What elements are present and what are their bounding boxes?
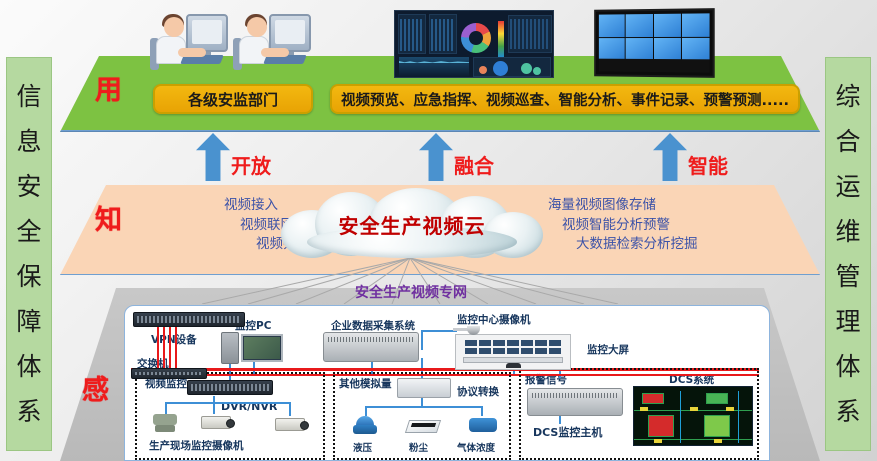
layer-tag-use: 用 (95, 68, 122, 107)
equipment-panel: VPN设备 交换机 监控PC 企业数据采集系统 监控中心摄像机 监控大屏 (124, 305, 770, 461)
side-left-char: 信 (16, 84, 41, 110)
side-left-char: 安 (16, 174, 41, 200)
bullet-camera-icon (201, 416, 231, 429)
pressure-sensor-icon (353, 416, 377, 434)
arrow-up-icon (653, 133, 687, 181)
cloud-capabilities-right: 海量视频图像存储 视频智能分析预警 大数据检索分析挖掘 (548, 196, 738, 255)
label-control-center-camera: 监控中心摄像机 (457, 312, 531, 327)
arrow-label-convergence: 融合 (454, 150, 494, 179)
cloud-capabilities-left: 视频接入 视频联网 视频共享 (128, 196, 278, 255)
side-right-char: 合 (835, 129, 860, 155)
side-left-char: 障 (16, 309, 41, 335)
dvr-nvr-icon (187, 380, 273, 395)
video-wall-room-icon (455, 334, 571, 370)
analytics-dashboard-icon (394, 10, 554, 78)
cloud-right-item: 视频智能分析预警 (562, 216, 738, 236)
dcs-screen-icon (633, 386, 753, 446)
arrow-up-icon (419, 133, 453, 181)
cloud-title: 安全生产视频云 (281, 210, 543, 239)
layer-tag-know: 知 (95, 198, 122, 237)
side-right-char: 系 (835, 399, 860, 425)
box-application-functions[interactable]: 视频预览、应急指挥、视频巡查、智能分析、事件记录、预警预测..... (330, 84, 800, 114)
protocol-converter-icon (397, 378, 451, 398)
layer-tag-sense: 感 (82, 368, 109, 407)
dust-sensor-icon (405, 420, 441, 433)
video-cloud-icon: 安全生产视频云 (281, 188, 543, 260)
side-right-char: 理 (835, 309, 860, 335)
network-label: 安全生产视频专网 (355, 282, 467, 302)
operator-workstations-illustration (148, 8, 314, 78)
cloud-left-item: 视频接入 (128, 196, 278, 216)
arrow-label-open: 开放 (231, 150, 271, 179)
side-right-char: 综 (835, 84, 860, 110)
box-supervision-departments[interactable]: 各级安监部门 (153, 84, 313, 114)
operator-workstation-icon (148, 8, 231, 78)
switch-icon (131, 368, 207, 379)
diagram-canvas: 用 知 感 信 息 安 全 保 障 体 系 综 合 运 维 管 理 体 系 (0, 0, 877, 461)
dome-camera-icon (453, 326, 481, 336)
desktop-pc-icon (221, 332, 239, 364)
side-panel-operations-management: 综 合 运 维 管 理 体 系 (825, 57, 871, 451)
bullet-camera-icon (275, 418, 305, 431)
cloud-left-item: 视频联网 (128, 216, 294, 236)
side-left-char: 体 (16, 354, 41, 380)
side-panel-information-security: 信 息 安 全 保 障 体 系 (6, 57, 52, 451)
video-wall-icon (594, 8, 715, 78)
side-left-char: 系 (16, 399, 41, 425)
ptz-camera-icon (153, 414, 177, 432)
label-monitoring-big-screen: 监控大屏 (587, 342, 629, 357)
side-right-char: 维 (835, 219, 860, 245)
operator-workstation-icon (231, 8, 314, 78)
pc-monitor-icon (241, 334, 283, 362)
cloud-right-item: 海量视频图像存储 (548, 196, 738, 216)
gas-meter-icon (469, 418, 497, 432)
label-data-acquisition-system: 企业数据采集系统 (331, 318, 415, 333)
side-right-char: 运 (835, 174, 860, 200)
arrow-up-icon (196, 133, 230, 181)
side-left-char: 息 (16, 129, 41, 155)
side-left-char: 全 (16, 219, 41, 245)
side-right-char: 体 (835, 354, 860, 380)
side-right-char: 管 (835, 264, 860, 290)
side-left-char: 保 (16, 264, 41, 290)
cloud-right-item: 大数据检索分析挖掘 (576, 235, 738, 255)
vpn-device-icon (133, 312, 245, 327)
industrial-server-icon (323, 332, 419, 362)
arrow-label-intelligent: 智能 (688, 150, 728, 179)
dcs-host-icon (527, 388, 623, 416)
